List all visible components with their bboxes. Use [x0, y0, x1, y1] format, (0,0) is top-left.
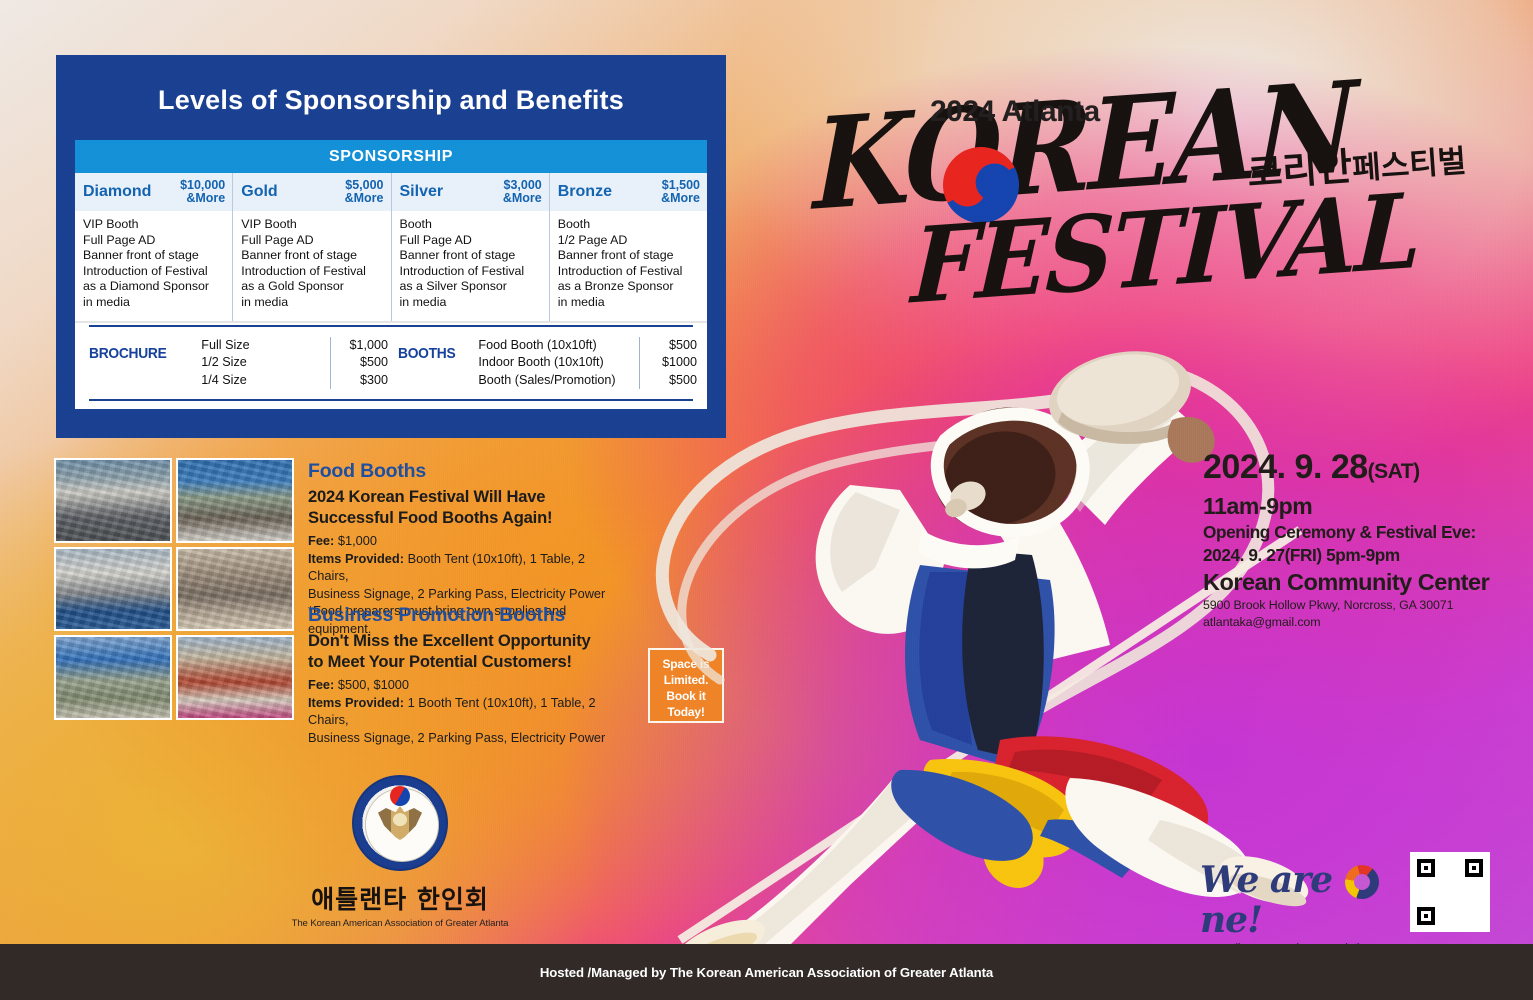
- business-booths-section: Business Promotion Booths Don't Miss the…: [308, 604, 628, 746]
- footer-bar: Hosted /Managed by The Korean American A…: [0, 944, 1533, 1000]
- tier-name: Silver: [400, 177, 444, 207]
- tier-price-more: &More: [345, 191, 384, 205]
- benefit-line: in media: [241, 295, 382, 311]
- footer-text: Hosted /Managed by The Korean American A…: [540, 965, 993, 980]
- fee-value: $1,000: [338, 533, 377, 548]
- brochure-price: $300: [330, 372, 388, 390]
- food-items-row: Items Provided: Booth Tent (10x10ft), 1 …: [308, 550, 628, 585]
- tier-diamond: Diamond $10,000 &More VIP Booth Full Pag…: [75, 173, 233, 321]
- benefit-line: in media: [400, 295, 541, 311]
- benefit-line: as a Gold Sponsor: [241, 279, 382, 295]
- benefit-line: in media: [83, 295, 224, 311]
- association-korean-name: 애틀랜타 한인회: [290, 880, 510, 916]
- food-items-row2: Business Signage, 2 Parking Pass, Electr…: [308, 585, 628, 603]
- we-are-one-post: ne!: [1200, 899, 1262, 941]
- qr-code-pattern: [1415, 857, 1485, 927]
- association-english-name: The Korean American Association of Great…: [290, 918, 510, 929]
- festival-photo: [176, 635, 294, 720]
- festival-photo: [54, 635, 172, 720]
- seal-taeguk-icon: [390, 786, 410, 806]
- tier-header: Silver $3,000 &More: [392, 173, 549, 211]
- tier-price: $1,500 &More: [661, 177, 700, 205]
- tier-name: Bronze: [558, 177, 612, 207]
- brochure-label: BROCHURE: [89, 337, 167, 390]
- subtitle-line: Don't Miss the Excellent Opportunity: [308, 630, 628, 651]
- hangul-festival: 페스티벌: [1351, 143, 1467, 187]
- tier-price-amount: $5,000: [345, 178, 383, 192]
- benefit-line: Booth: [400, 217, 541, 233]
- business-fee-row: Fee: $500, $1000: [308, 676, 628, 694]
- benefit-line: Full Page AD: [241, 233, 382, 249]
- title-festival-word: FESTIVAL: [910, 180, 1423, 320]
- brochure-item: 1/4 Size: [179, 372, 330, 390]
- tier-price-more: &More: [661, 191, 700, 205]
- tier-header: Diamond $10,000 &More: [75, 173, 232, 211]
- tier-price-more: &More: [186, 191, 225, 205]
- food-booths-title: Food Booths: [308, 460, 628, 483]
- booths-label: BOOTHS: [398, 337, 455, 390]
- tier-price-more: &More: [503, 191, 542, 205]
- subtitle-line: 2024 Korean Festival Will Have: [308, 486, 628, 507]
- tier-gold: Gold $5,000 &More VIP Booth Full Page AD…: [233, 173, 391, 321]
- tier-benefits: Booth Full Page AD Banner front of stage…: [392, 211, 549, 321]
- food-booths-subtitle: 2024 Korean Festival Will Have Successfu…: [308, 486, 628, 528]
- poster-root: Levels of Sponsorship and Benefits SPONS…: [0, 0, 1533, 1000]
- items-label: Items Provided:: [308, 551, 404, 566]
- tier-price-amount: $1,500: [662, 178, 700, 192]
- brochure-row: 1/4 Size $300: [179, 372, 388, 390]
- business-items-row2: Business Signage, 2 Parking Pass, Electr…: [308, 729, 628, 747]
- tier-benefits: VIP Booth Full Page AD Banner front of s…: [233, 211, 390, 321]
- event-date: 2024. 9. 28: [1203, 448, 1368, 486]
- benefit-line: as a Silver Sponsor: [400, 279, 541, 295]
- benefit-line: Introduction of Festival: [558, 264, 699, 280]
- brochure-row: Full Size $1,000: [179, 337, 388, 355]
- qr-finder-icon: [1417, 859, 1435, 877]
- festival-photo: [176, 458, 294, 543]
- tier-name: Gold: [241, 177, 277, 207]
- brochure-item: 1/2 Size: [179, 354, 330, 372]
- brochure-row: 1/2 Size $500: [179, 354, 388, 372]
- business-items-row: Items Provided: 1 Booth Tent (10x10ft), …: [308, 694, 628, 729]
- tier-price: $10,000 &More: [180, 177, 225, 205]
- benefit-line: as a Diamond Sponsor: [83, 279, 224, 295]
- festival-photo-grid: [54, 458, 294, 720]
- page-title: Levels of Sponsorship and Benefits: [56, 55, 726, 116]
- sponsorship-header-bar: SPONSORSHIP: [75, 140, 707, 173]
- benefit-line: Banner front of stage: [400, 248, 541, 264]
- we-are-one-pre: We are: [1200, 859, 1344, 901]
- business-booths-subtitle: Don't Miss the Excellent Opportunity to …: [308, 630, 628, 672]
- benefit-line: 1/2 Page AD: [558, 233, 699, 249]
- benefit-line: Banner front of stage: [241, 248, 382, 264]
- tier-silver: Silver $3,000 &More Booth Full Page AD B…: [392, 173, 550, 321]
- event-date-line: 2024. 9. 28(SAT): [1203, 448, 1503, 491]
- subtitle-line: Successful Food Booths Again!: [308, 507, 628, 528]
- benefit-line: VIP Booth: [83, 217, 224, 233]
- benefit-line: Introduction of Festival: [241, 264, 382, 280]
- benefit-line: Booth: [558, 217, 699, 233]
- business-booths-title: Business Promotion Booths: [308, 604, 628, 627]
- brochure-section: BROCHURE Full Size $1,000 1/2 Size $500 …: [89, 337, 388, 390]
- benefit-line: Full Page AD: [400, 233, 541, 249]
- tier-header: Gold $5,000 &More: [233, 173, 390, 211]
- festival-photo: [54, 458, 172, 543]
- benefit-line: Banner front of stage: [558, 248, 699, 264]
- benefit-line: as a Bronze Sponsor: [558, 279, 699, 295]
- title-year-city: 2024 Atlanta: [930, 95, 1100, 129]
- qr-code[interactable]: [1410, 852, 1490, 932]
- items-label: Items Provided:: [308, 695, 404, 710]
- tier-name: Diamond: [83, 177, 151, 207]
- subtitle-line: to Meet Your Potential Customers!: [308, 651, 628, 672]
- opening-ceremony-date: 2024. 9. 27(FRI) 5pm-9pm: [1203, 545, 1503, 566]
- event-day: (SAT): [1368, 460, 1420, 483]
- benefit-line: Introduction of Festival: [83, 264, 224, 280]
- brochure-price: $500: [330, 354, 388, 372]
- qr-finder-icon: [1417, 907, 1435, 925]
- qr-finder-icon: [1465, 859, 1483, 877]
- festival-photo: [176, 547, 294, 632]
- event-address: 5900 Brook Hollow Pkwy, Norcross, GA 300…: [1203, 598, 1503, 613]
- brochure-item: Full Size: [179, 337, 330, 355]
- benefit-line: Introduction of Festival: [400, 264, 541, 280]
- hangul-koreaan: 코리안: [1246, 144, 1354, 195]
- tier-header: Bronze $1,500 &More: [550, 173, 707, 211]
- event-time: 11am-9pm: [1203, 492, 1503, 520]
- association-seal-icon: [352, 775, 448, 871]
- benefit-line: VIP Booth: [241, 217, 382, 233]
- event-email[interactable]: atlantaka@gmail.com: [1203, 615, 1503, 630]
- brochure-price: $1,000: [330, 337, 388, 355]
- tier-price-amount: $3,000: [504, 178, 542, 192]
- festival-title-logo: KOREAN 2024 Atlanta FESTIVAL 코리안페스티벌: [815, 75, 1515, 305]
- association-logo-block: 애틀랜타 한인회 The Korean American Association…: [290, 775, 510, 929]
- fee-value: $500, $1000: [338, 677, 409, 692]
- benefit-line: Banner front of stage: [83, 248, 224, 264]
- food-fee-row: Fee: $1,000: [308, 532, 628, 550]
- festival-photo: [54, 547, 172, 632]
- brochure-rows: Full Size $1,000 1/2 Size $500 1/4 Size …: [179, 337, 388, 390]
- tier-price-amount: $10,000: [180, 178, 225, 192]
- we-are-one-mark: We are ne!: [1200, 860, 1400, 940]
- event-venue: Korean Community Center: [1203, 568, 1503, 596]
- tier-benefits: VIP Booth Full Page AD Banner front of s…: [75, 211, 232, 321]
- colored-o-icon: [1345, 865, 1379, 899]
- tier-price: $3,000 &More: [503, 177, 542, 205]
- we-are-one-logo: We are ne! www.atlkoreanamericanassociat…: [1200, 860, 1400, 954]
- event-details: 2024. 9. 28(SAT) 11am-9pm Opening Ceremo…: [1203, 448, 1503, 630]
- fee-label: Fee:: [308, 677, 334, 692]
- fee-label: Fee:: [308, 533, 334, 548]
- opening-ceremony-label: Opening Ceremony & Festival Eve:: [1203, 522, 1503, 543]
- tier-price: $5,000 &More: [345, 177, 384, 205]
- tier-bronze: Bronze $1,500 &More Booth 1/2 Page AD Ba…: [550, 173, 707, 321]
- benefit-line: Full Page AD: [83, 233, 224, 249]
